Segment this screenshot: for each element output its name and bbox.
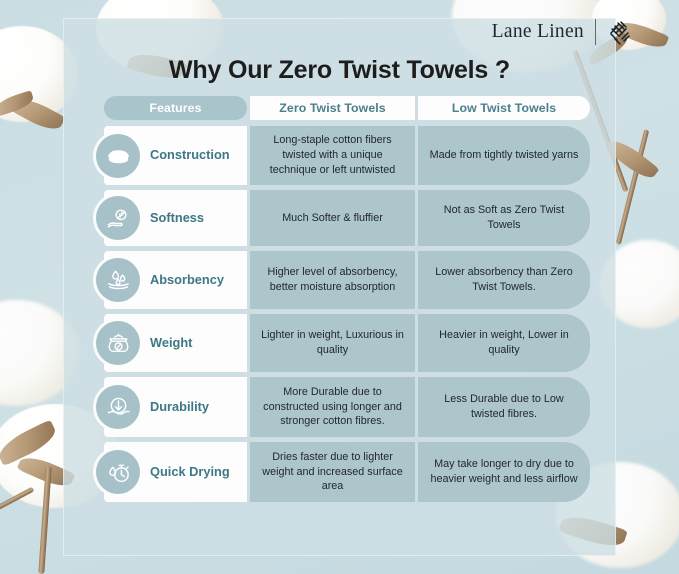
cell-zero-twist: Long-staple cotton fibers twisted with a… xyxy=(250,126,415,185)
cell-low-twist: Less Durable due to Low twisted fibres. xyxy=(418,377,590,437)
feature-label: Construction xyxy=(150,148,236,163)
arrow-down-durability-icon xyxy=(96,385,140,429)
table-row: Durability More Durable due to construct… xyxy=(104,377,590,437)
cell-low-twist: Heavier in weight, Lower in quality xyxy=(418,314,590,372)
brand-name: Lane Linen xyxy=(492,21,584,43)
kitchen-scale-icon xyxy=(96,321,140,365)
feature-label: Durability xyxy=(150,400,215,415)
cell-zero-twist: Lighter in weight, Luxurious in quality xyxy=(250,314,415,372)
feature-label: Quick Drying xyxy=(150,465,236,480)
column-header-zero-twist: Zero Twist Towels xyxy=(250,96,415,120)
cell-low-twist: Made from tightly twisted yarns xyxy=(418,126,590,185)
water-droplets-absorb-icon xyxy=(96,258,140,302)
brand-logo: Lane Linen xyxy=(492,19,633,45)
feature-cell: Quick Drying xyxy=(104,442,247,502)
table-row: Construction Long-staple cotton fibers t… xyxy=(104,126,590,185)
feature-label: Absorbency xyxy=(150,273,230,288)
feature-cell: Weight xyxy=(104,314,247,372)
comparison-table: Features Zero Twist Towels Low Twist Tow… xyxy=(104,96,590,507)
cell-zero-twist: Higher level of absorbency, better moist… xyxy=(250,251,415,309)
stopwatch-droplet-icon xyxy=(96,450,140,494)
feature-cell: Absorbency xyxy=(104,251,247,309)
column-header-features: Features xyxy=(104,96,247,120)
brand-divider xyxy=(595,19,596,45)
feature-cell: Construction xyxy=(104,126,247,185)
column-header-low-twist: Low Twist Towels xyxy=(418,96,590,120)
cell-low-twist: Lower absorbency than Zero Twist Towels. xyxy=(418,251,590,309)
table-row: Absorbency Higher level of absorbency, b… xyxy=(104,251,590,309)
table-row: Weight Lighter in weight, Luxurious in q… xyxy=(104,314,590,372)
cell-low-twist: Not as Soft as Zero Twist Towels xyxy=(418,190,590,246)
cell-zero-twist: More Durable due to constructed using lo… xyxy=(250,377,415,437)
cell-low-twist: May take longer to dry due to heavier we… xyxy=(418,442,590,502)
cell-zero-twist: Much Softer & fluffier xyxy=(250,190,415,246)
page-title: Why Our Zero Twist Towels ? xyxy=(63,56,616,85)
feature-cell: Softness xyxy=(104,190,247,246)
cell-zero-twist: Dries faster due to lighter weight and i… xyxy=(250,442,415,502)
woven-weave-icon xyxy=(607,19,633,45)
table-row: Softness Much Softer & fluffier Not as S… xyxy=(104,190,590,246)
feature-cell: Durability xyxy=(104,377,247,437)
infographic-canvas: Lane Linen Why Our Zero Twist Towels ? F… xyxy=(0,0,679,574)
table-row: Quick Drying Dries faster due to lighter… xyxy=(104,442,590,502)
table-header-row: Features Zero Twist Towels Low Twist Tow… xyxy=(104,96,590,120)
folded-towel-icon xyxy=(96,134,140,178)
feature-label: Softness xyxy=(150,211,210,226)
feature-label: Weight xyxy=(150,336,198,351)
feather-in-hand-icon xyxy=(96,196,140,240)
